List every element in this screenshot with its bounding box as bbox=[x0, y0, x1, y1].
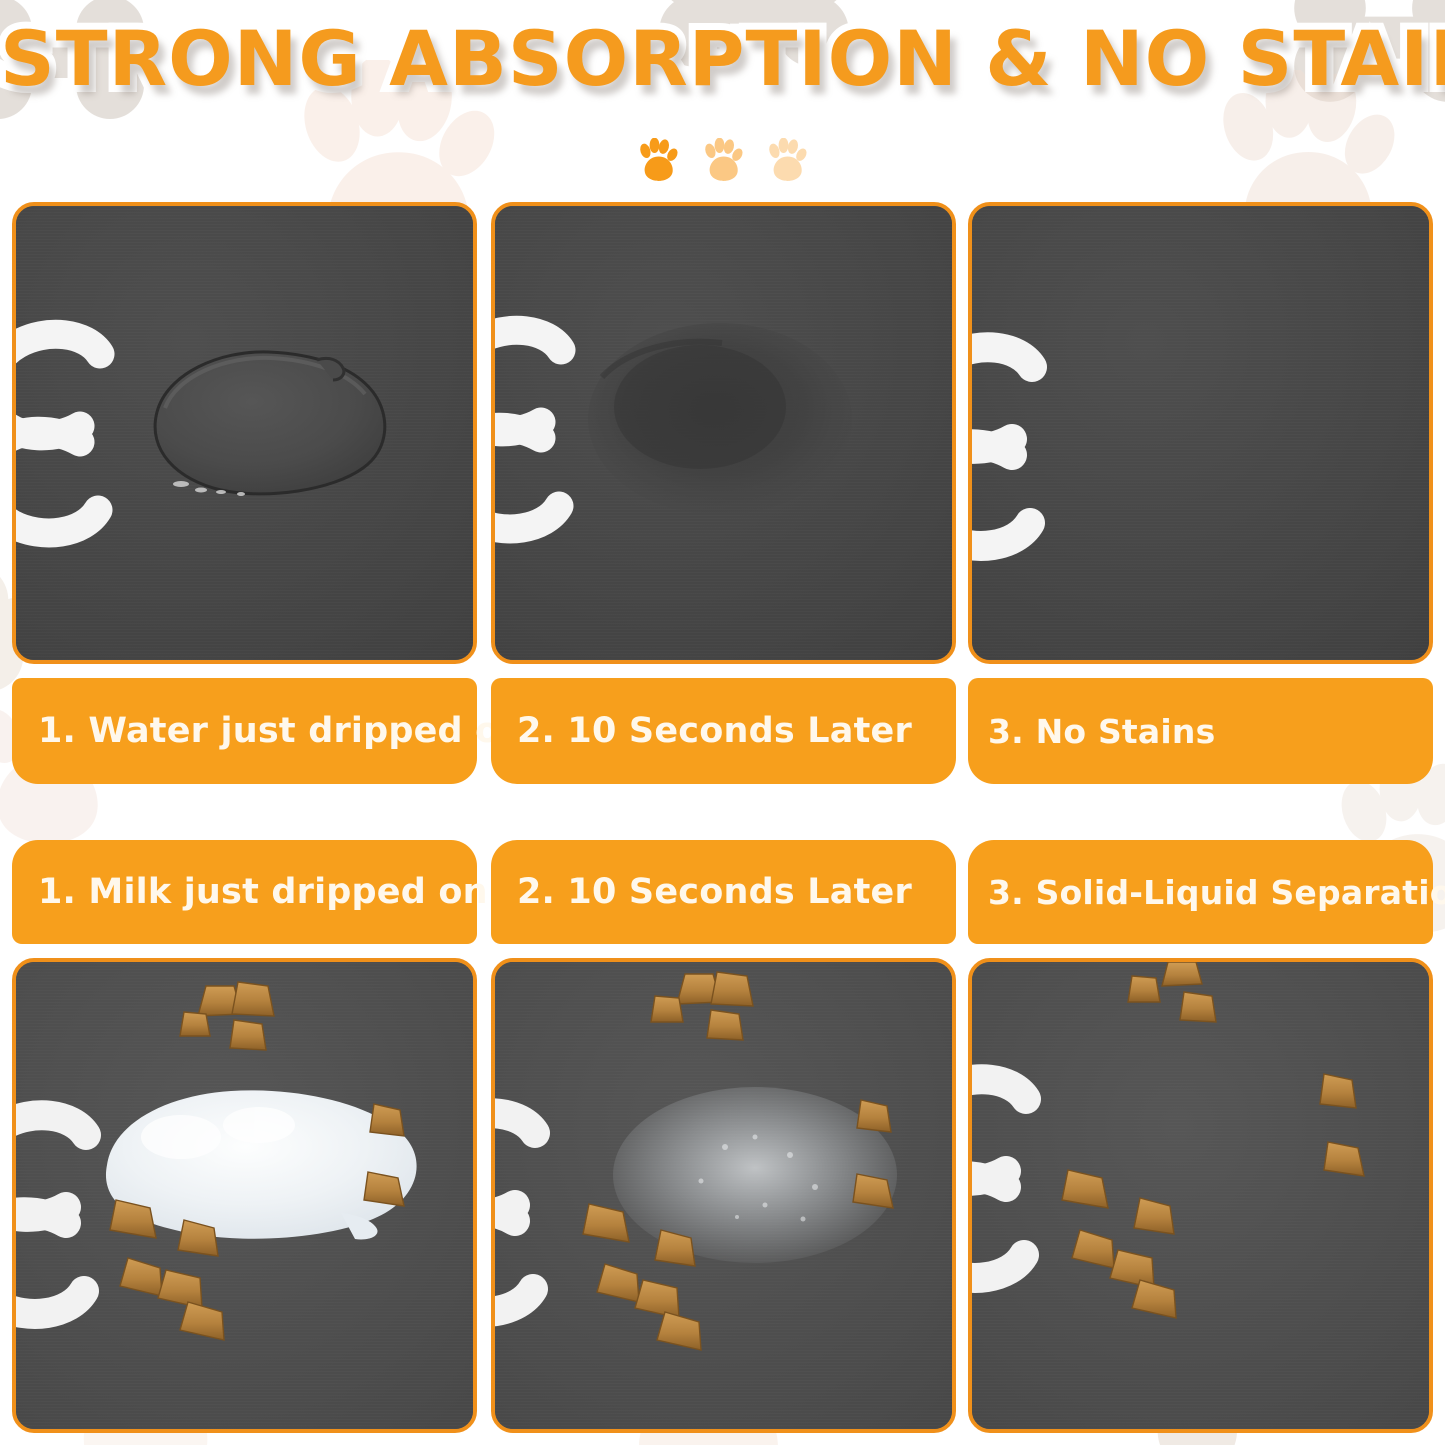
column-2: 2. 10 Seconds Later 2. 10 Seconds Later bbox=[491, 0, 956, 1445]
paw-divider bbox=[0, 138, 1445, 184]
mat-surface bbox=[16, 962, 473, 1429]
panel-water-1 bbox=[12, 202, 477, 664]
mat-surface bbox=[495, 962, 952, 1429]
paw-print-icon bbox=[766, 138, 808, 184]
panel-milk-3 bbox=[968, 958, 1433, 1433]
comparison-grid: 1. Water just dripped on 1. Milk just dr… bbox=[0, 0, 1445, 1445]
caption-water-3: 3. No Stains bbox=[968, 678, 1433, 784]
mat-surface bbox=[972, 206, 1429, 660]
panel-water-3 bbox=[968, 202, 1433, 664]
panel-milk-2 bbox=[491, 958, 956, 1433]
paw-print-icon bbox=[702, 138, 744, 184]
caption-milk-2: 2. 10 Seconds Later bbox=[491, 840, 956, 944]
caption-text: 2. 10 Seconds Later bbox=[517, 872, 912, 912]
column-1: 1. Water just dripped on 1. Milk just dr… bbox=[12, 0, 477, 1445]
caption-milk-1: 1. Milk just dripped on bbox=[12, 840, 477, 944]
caption-text: 1. Milk just dripped on bbox=[38, 872, 488, 912]
column-3: 3. No Stains 3. Solid-Liquid Separation bbox=[968, 0, 1433, 1445]
page-title: STRONG ABSORPTION & NO STAINS bbox=[0, 14, 1445, 103]
caption-water-1: 1. Water just dripped on bbox=[12, 678, 477, 784]
mat-surface bbox=[495, 206, 952, 660]
caption-text: 3. No Stains bbox=[988, 712, 1215, 751]
panel-milk-1 bbox=[12, 958, 477, 1433]
caption-text: 3. Solid-Liquid Separation bbox=[988, 873, 1445, 912]
paw-print-icon bbox=[637, 138, 679, 184]
header: STRONG ABSORPTION & NO STAINS bbox=[0, 0, 1445, 195]
caption-text: 1. Water just dripped on bbox=[38, 711, 525, 751]
mat-surface bbox=[16, 206, 473, 660]
caption-text: 2. 10 Seconds Later bbox=[517, 711, 912, 751]
panel-water-2 bbox=[491, 202, 956, 664]
caption-water-2: 2. 10 Seconds Later bbox=[491, 678, 956, 784]
caption-milk-3: 3. Solid-Liquid Separation bbox=[968, 840, 1433, 944]
mat-surface bbox=[972, 962, 1429, 1429]
